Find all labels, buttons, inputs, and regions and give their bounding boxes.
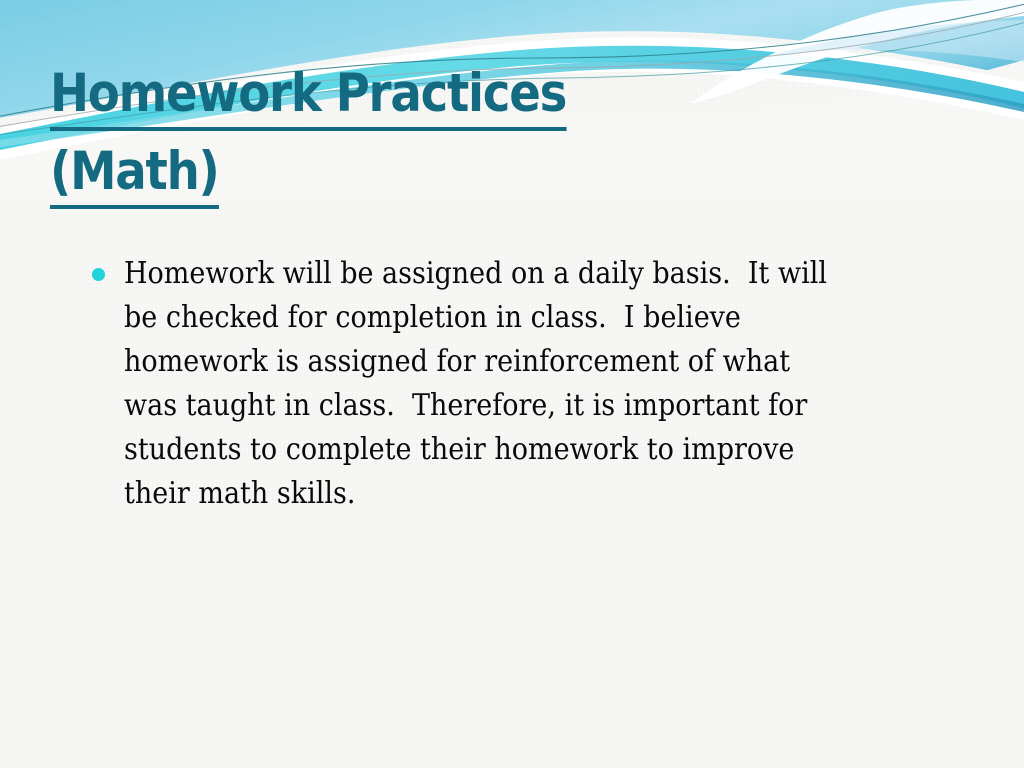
title-line-1: Homework Practices (50, 62, 566, 131)
bullet-text: Homework will be assigned on a daily bas… (124, 252, 844, 516)
presentation-slide: Homework Practices (Math) Homework will … (0, 0, 1024, 768)
slide-title: Homework Practices (Math) (50, 62, 950, 218)
slide-content: Homework will be assigned on a daily bas… (92, 252, 972, 516)
list-item: Homework will be assigned on a daily bas… (92, 252, 972, 516)
title-line-2: (Math) (50, 140, 219, 209)
bullet-dot-icon (92, 268, 105, 281)
